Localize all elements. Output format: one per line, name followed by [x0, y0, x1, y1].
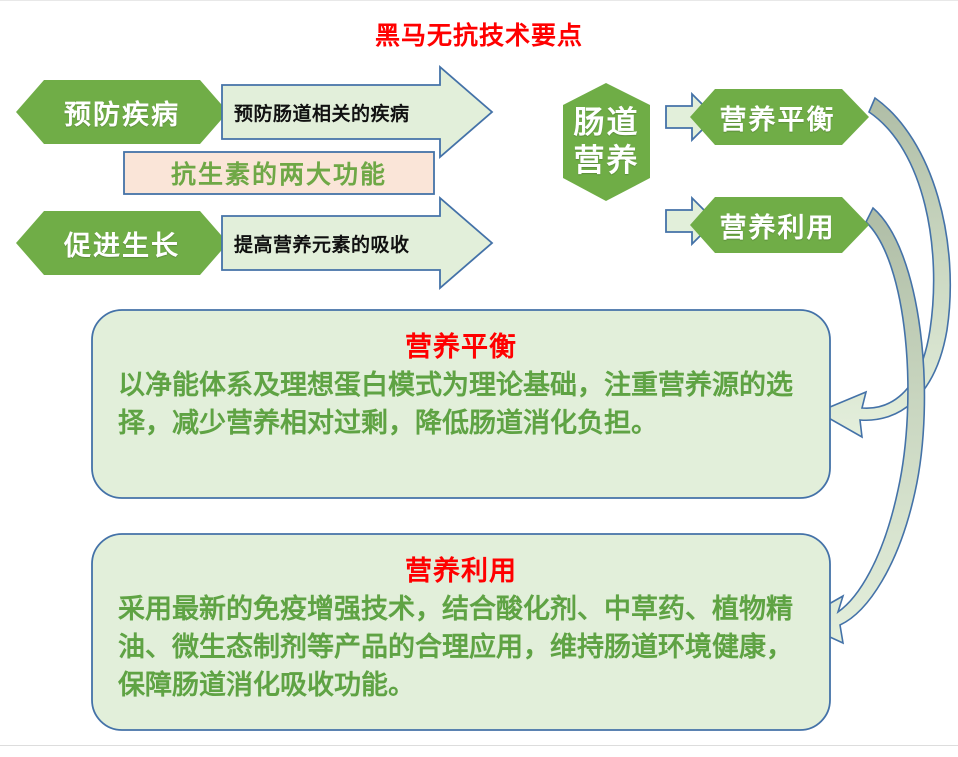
hexagon-intestinal-nutrition[interactable] [563, 83, 650, 201]
block-arrow-prevent-intestinal-disease[interactable] [222, 67, 492, 157]
chevron-prevent-disease[interactable] [16, 80, 228, 144]
diagram-shapes [0, 0, 958, 757]
bottom-divider [0, 745, 958, 746]
slide-canvas: 黑马无抗技术要点 [0, 0, 958, 757]
chevron-nutrition-utilization[interactable] [690, 197, 869, 253]
block-arrow-improve-absorption[interactable] [222, 198, 492, 288]
panel-balance-box[interactable] [92, 310, 830, 498]
chevron-promote-growth[interactable] [16, 211, 228, 275]
pink-box-antibiotic-functions[interactable] [124, 152, 434, 194]
curve-balance-to-panel1 [818, 98, 950, 437]
panel-utilization-box[interactable] [92, 534, 830, 730]
chevron-nutrition-balance[interactable] [690, 89, 869, 145]
